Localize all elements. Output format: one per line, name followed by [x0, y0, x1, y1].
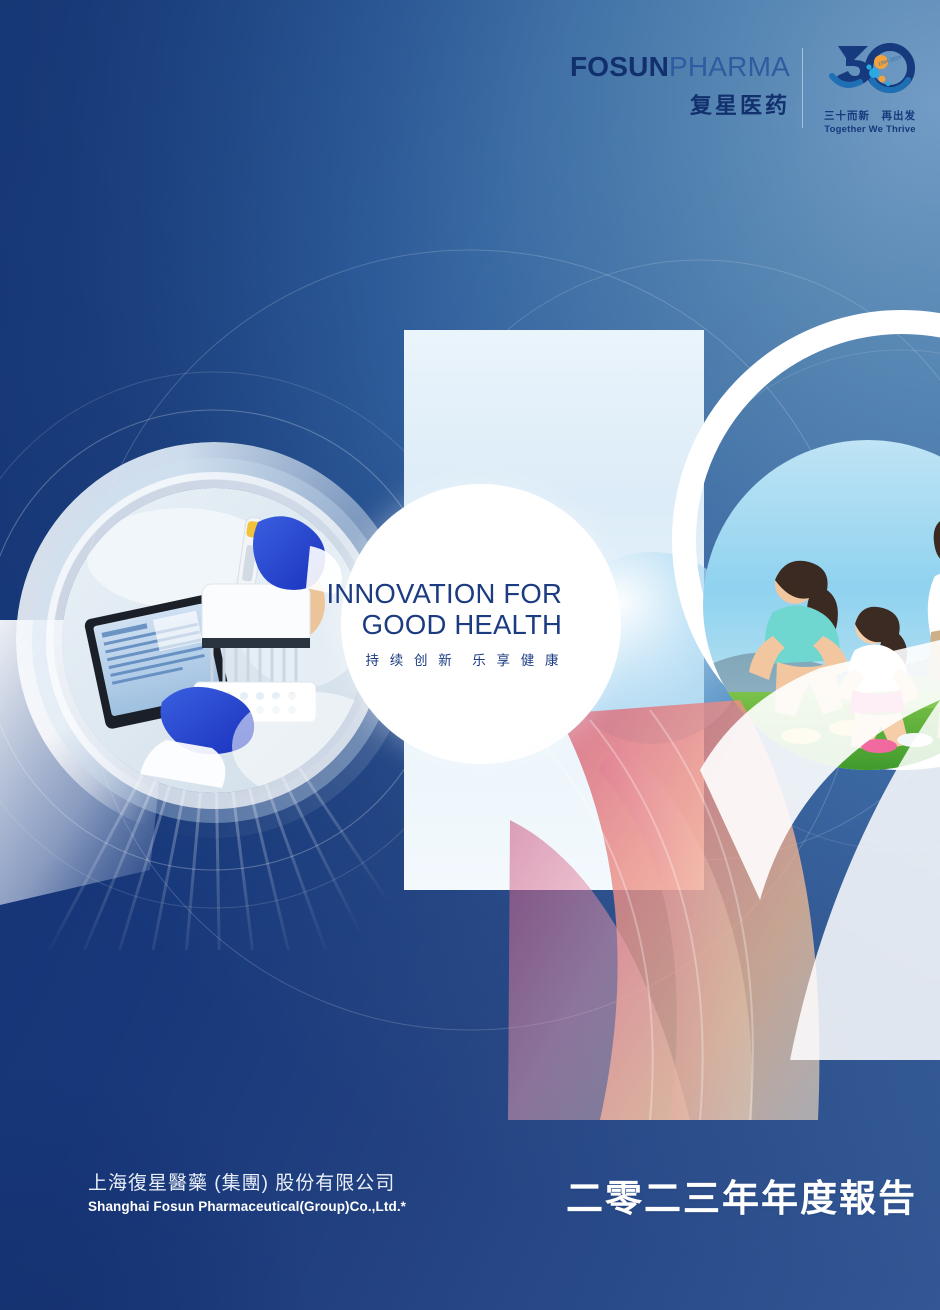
company-name-chinese: 上海復星醫藥 (集團) 股份有限公司 — [88, 1172, 406, 1196]
anniversary-slogan-chinese: 三十而新 再出发 — [810, 108, 930, 123]
company-name: 上海復星醫藥 (集團) 股份有限公司 Shanghai Fosun Pharma… — [88, 1172, 406, 1214]
tagline-line-2: GOOD HEALTH — [300, 609, 562, 640]
brand-name-english: FOSUNPHARMA — [570, 53, 790, 81]
brand-name-chinese: 复星医药 — [570, 88, 790, 120]
tagline: INNOVATION FOR GOOD HEALTH 持 续 创 新 乐 享 健… — [300, 578, 562, 669]
tagline-line-1: INNOVATION FOR — [300, 578, 562, 609]
brand-pharma: PHARMA — [669, 51, 790, 82]
company-name-english: Shanghai Fosun Pharmaceutical(Group)Co.,… — [88, 1199, 406, 1214]
tagline-chinese: 持 续 创 新 乐 享 健 康 — [300, 649, 562, 669]
warm-gradient-ribbon — [500, 700, 940, 1120]
ribbon-graphic — [500, 700, 940, 1120]
anniversary-logo: 1994·2024 三十而新 再出发 Together We Thrive — [810, 40, 930, 135]
brand-fosun: FOSUN — [570, 51, 669, 82]
fosun-pharma-logo: FOSUNPHARMA 复星医药 — [570, 53, 790, 120]
logo-divider — [802, 48, 803, 128]
thirty-years-mark-icon: 1994·2024 — [824, 40, 916, 102]
report-title: 二零二三年年度報告 — [566, 1168, 917, 1222]
anniversary-slogan-english: Together We Thrive — [810, 124, 930, 135]
annual-report-cover: INNOVATION FOR GOOD HEALTH 持 续 创 新 乐 享 健… — [0, 0, 940, 1310]
